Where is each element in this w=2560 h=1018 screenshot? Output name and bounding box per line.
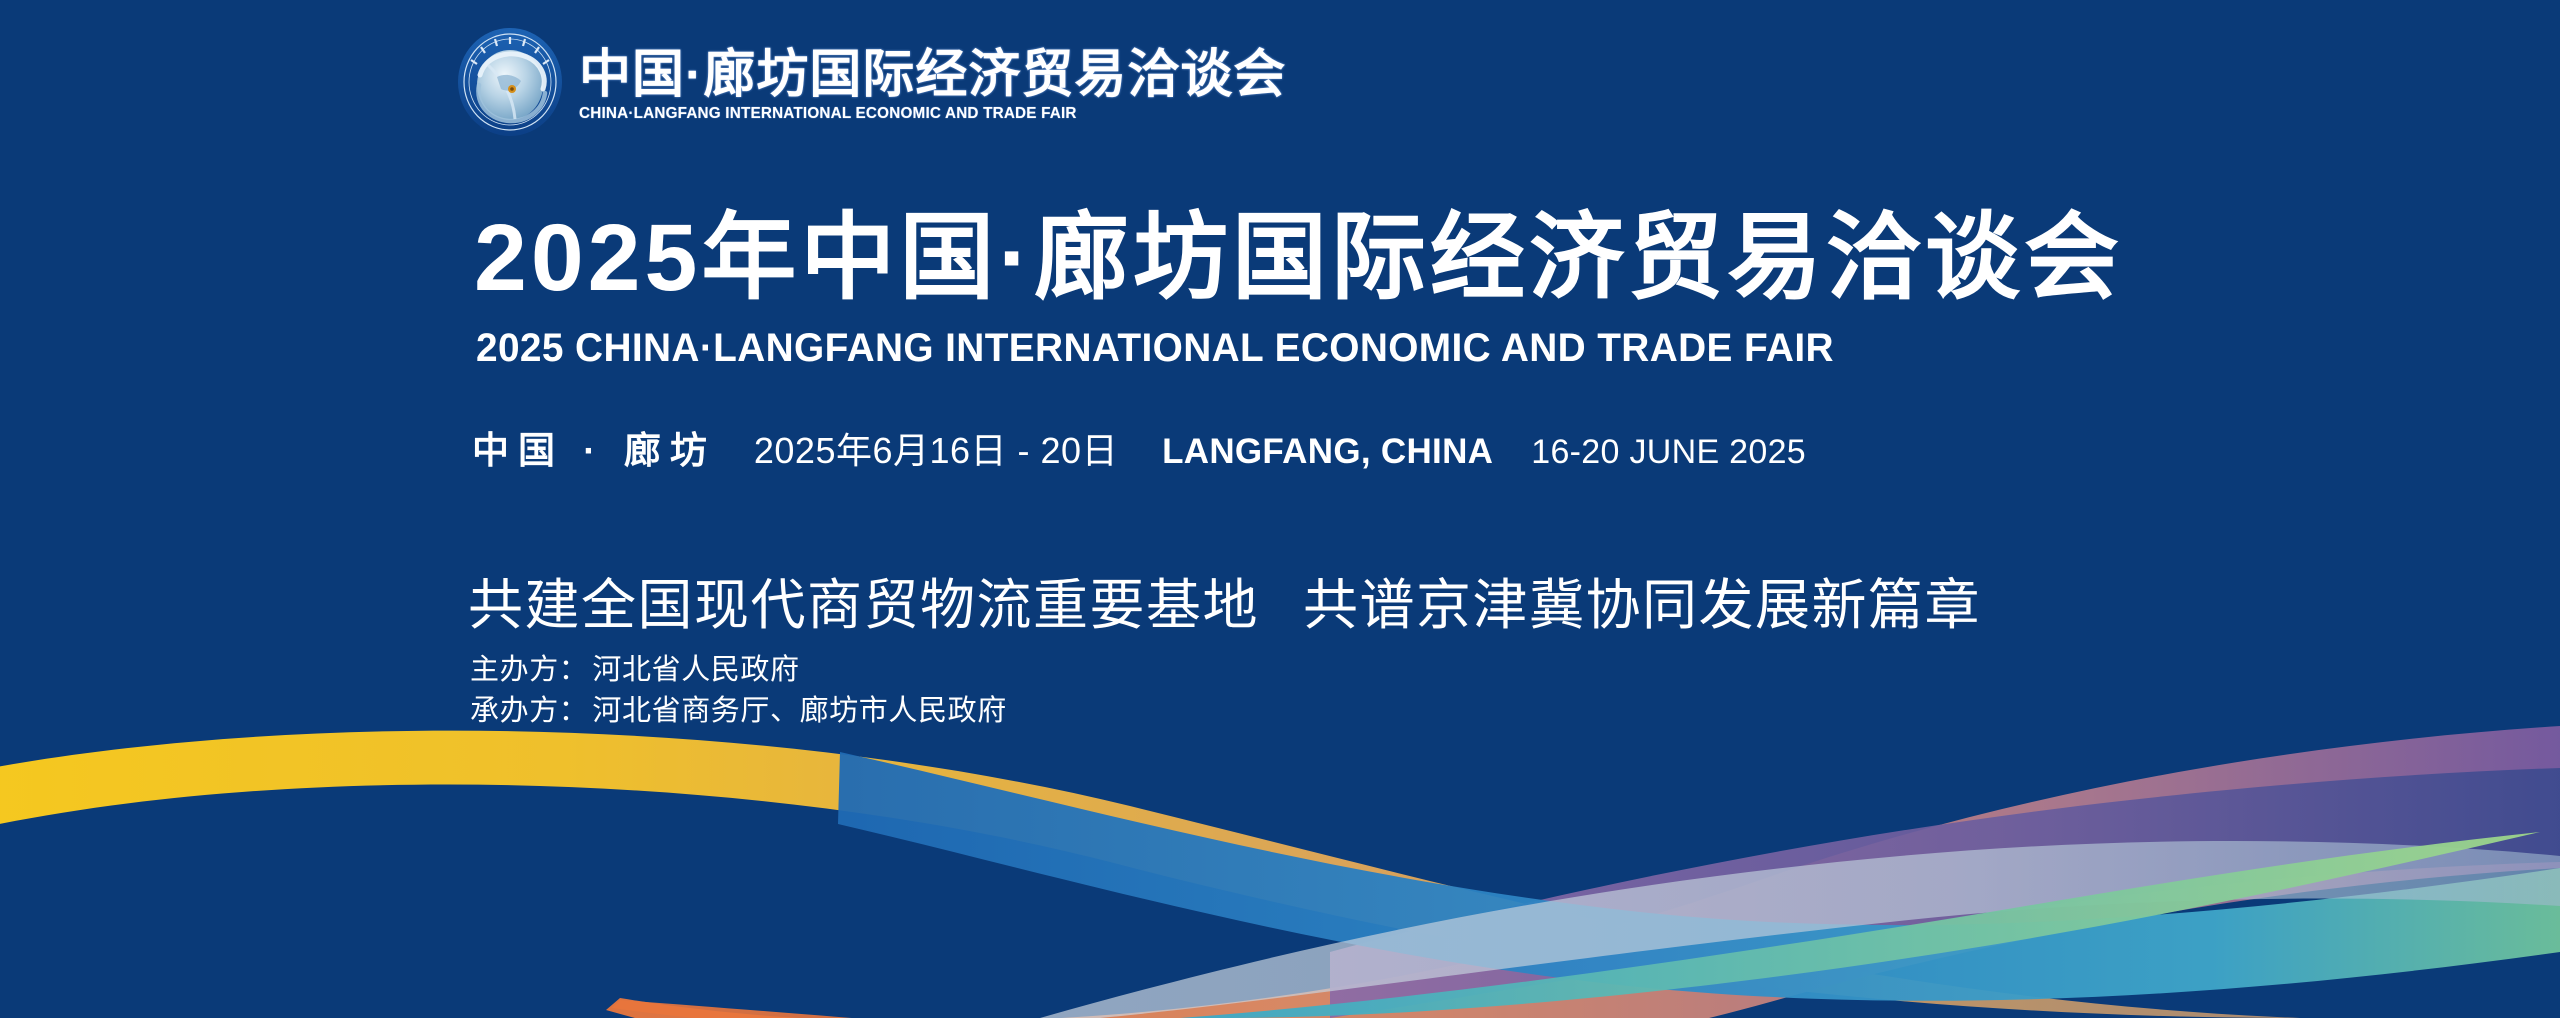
slogan-part-1: 共建全国现代商贸物流重要基地 bbox=[468, 574, 1259, 636]
organiser-value: 河北省商务厅、廊坊市人民政府 bbox=[592, 695, 1006, 727]
organiser-line: 承办方：河北省商务厅、廊坊市人民政府 bbox=[470, 691, 1007, 732]
headline-english: 2025 CHINA·LANGFANG INTERNATIONAL ECONOM… bbox=[476, 328, 1834, 368]
event-meta-row: 中国 · 廊坊 2025年6月16日 - 20日 LANGFANG, CHINA… bbox=[472, 420, 1806, 474]
organiser-line: 主办方：河北省人民政府 bbox=[470, 650, 1007, 691]
globe-emblem-icon bbox=[455, 27, 565, 137]
organiser-label: 主办方： bbox=[470, 654, 588, 686]
event-slogan: 共建全国现代商贸物流重要基地共谱京津冀协同发展新篇章 bbox=[468, 560, 1981, 640]
wave-decoration-overlay bbox=[0, 0, 2560, 1018]
headline-chinese: 2025年中国·廊坊国际经济贸易洽谈会 bbox=[474, 205, 2123, 311]
organiser-value: 河北省人民政府 bbox=[592, 654, 799, 686]
meta-place-english: LANGFANG, CHINA bbox=[1162, 432, 1493, 472]
logo-english-name: CHINA·LANGFANG INTERNATIONAL ECONOMIC AN… bbox=[579, 105, 1276, 122]
meta-date-chinese: 2025年6月16日 - 20日 bbox=[754, 422, 1118, 474]
meta-place-chinese: 中国 · 廊坊 bbox=[472, 420, 716, 474]
event-banner: 中国·廊坊国际经济贸易洽谈会 CHINA·LANGFANG INTERNATIO… bbox=[0, 0, 2560, 1018]
organisers-block: 主办方：河北省人民政府 承办方：河北省商务厅、廊坊市人民政府 bbox=[470, 650, 1007, 732]
logo-chinese-name: 中国·廊坊国际经济贸易洽谈会 bbox=[579, 48, 1286, 103]
fair-logo: 中国·廊坊国际经济贸易洽谈会 CHINA·LANGFANG INTERNATIO… bbox=[455, 22, 1286, 142]
wave-orange-thin-arc bbox=[612, 1000, 1180, 1018]
organiser-label: 承办方： bbox=[470, 695, 588, 727]
slogan-part-2: 共谱京津冀协同发展新篇章 bbox=[1303, 574, 1981, 636]
meta-date-english: 16-20 JUNE 2025 bbox=[1531, 433, 1806, 472]
logo-wordmark: 中国·廊坊国际经济贸易洽谈会 CHINA·LANGFANG INTERNATIO… bbox=[579, 42, 1286, 122]
